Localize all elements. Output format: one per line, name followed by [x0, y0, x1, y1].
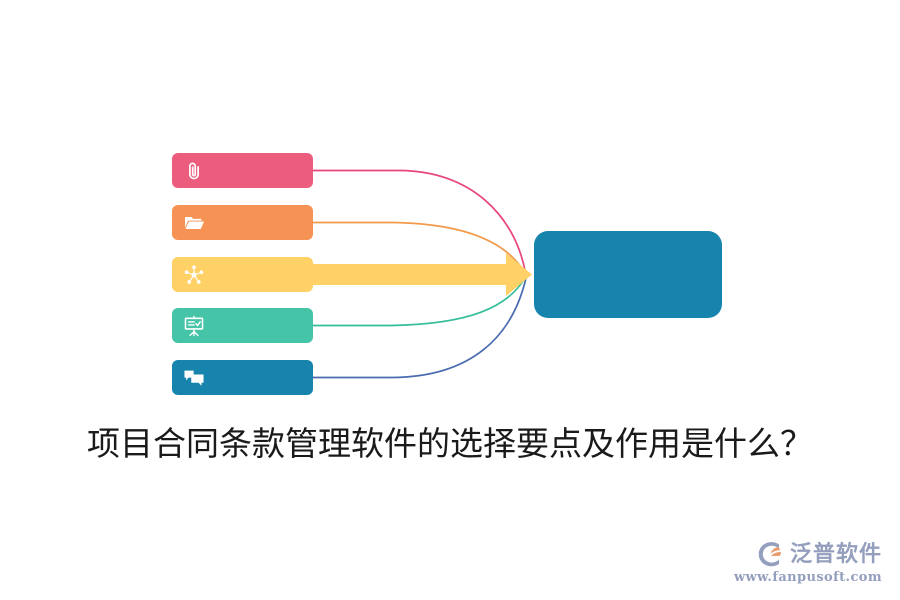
watermark: 泛普软件 www.fanpusoft.com — [732, 524, 882, 584]
diagram-node-folder[interactable] — [172, 205, 313, 240]
diagram-node-paperclip[interactable] — [172, 153, 313, 188]
diagram-node-chat[interactable] — [172, 360, 313, 395]
diagram-node-presentation[interactable] — [172, 308, 313, 343]
chat-bubbles-icon — [183, 367, 205, 389]
converging-arrows-diagram — [0, 0, 900, 420]
connector-arrow-2 — [300, 253, 532, 296]
paperclip-icon — [183, 160, 205, 182]
connector-line-4 — [313, 278, 526, 378]
diagram-node-network[interactable] — [172, 257, 313, 292]
watermark-url: www.fanpusoft.com — [734, 571, 882, 584]
connector-lines — [0, 0, 900, 420]
page-title: 项目合同条款管理软件的选择要点及作用是什么？ — [0, 418, 900, 470]
diagram-target-block[interactable] — [534, 231, 722, 318]
watermark-brand-name: 泛普软件 — [790, 543, 882, 565]
presentation-board-icon — [183, 315, 205, 337]
fanpu-swirl-logo-icon — [757, 540, 785, 568]
open-folder-icon — [183, 212, 205, 234]
network-hub-icon — [183, 264, 205, 286]
watermark-brand-row: 泛普软件 — [757, 540, 882, 568]
screenshot-canvas: 项目合同条款管理软件的选择要点及作用是什么？ 泛普软件 www.fanpusof… — [0, 0, 900, 600]
